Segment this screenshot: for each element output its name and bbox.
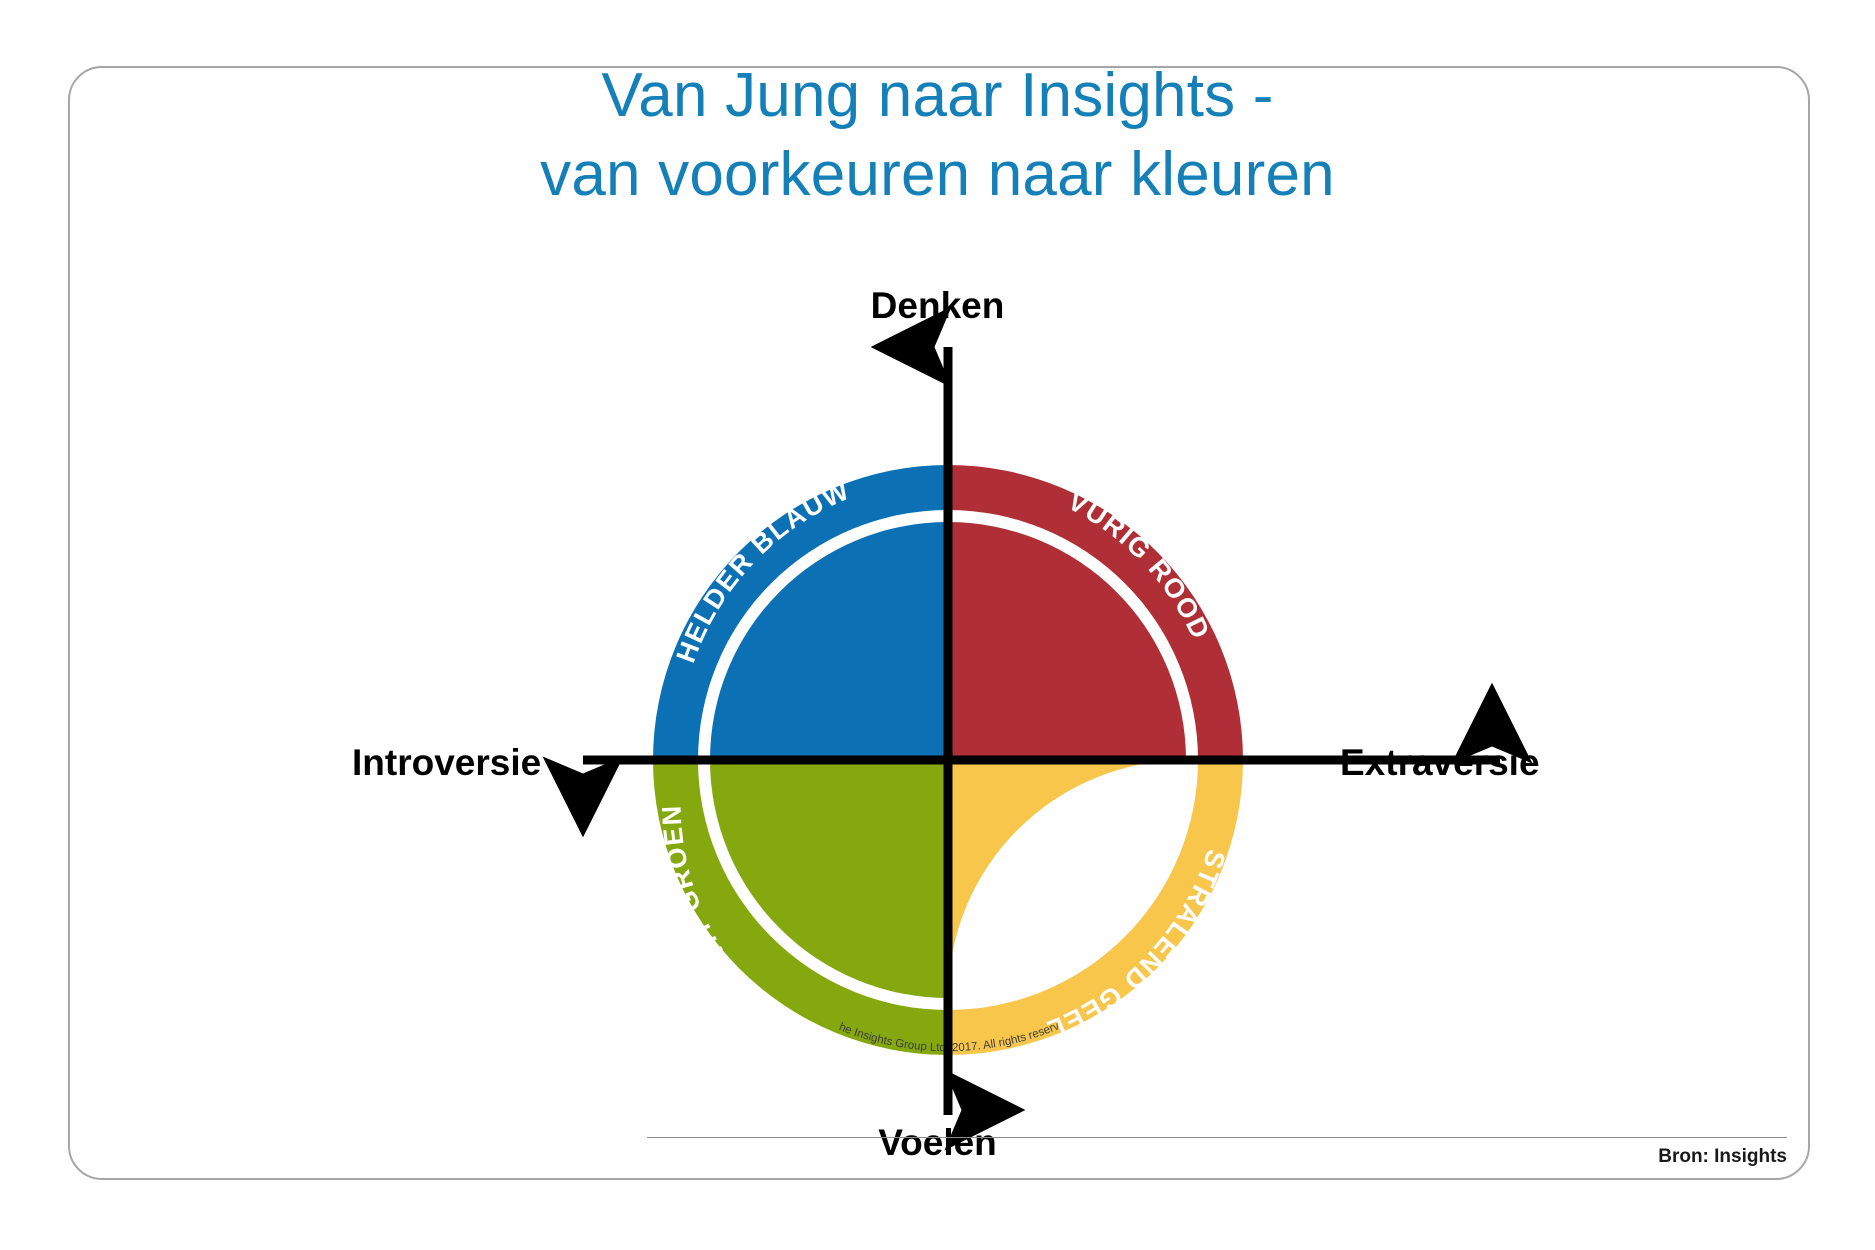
axis-label-voelen: Voelen xyxy=(0,1122,1875,1164)
source-note: Bron: Insights xyxy=(1658,1146,1787,1168)
page-title-line-1: Van Jung naar Insights - xyxy=(0,56,1875,135)
axis-label-denken: Denken xyxy=(0,285,1875,327)
axis-label-extraversie: Extraversie xyxy=(1340,742,1540,784)
page-title: Van Jung naar Insights - van voorkeuren … xyxy=(0,56,1875,215)
axis-label-introversie: Introversie xyxy=(352,742,541,784)
page-title-line-2: van voorkeuren naar kleuren xyxy=(0,135,1875,214)
source-divider xyxy=(647,1137,1787,1138)
slide-frame xyxy=(68,66,1810,1180)
